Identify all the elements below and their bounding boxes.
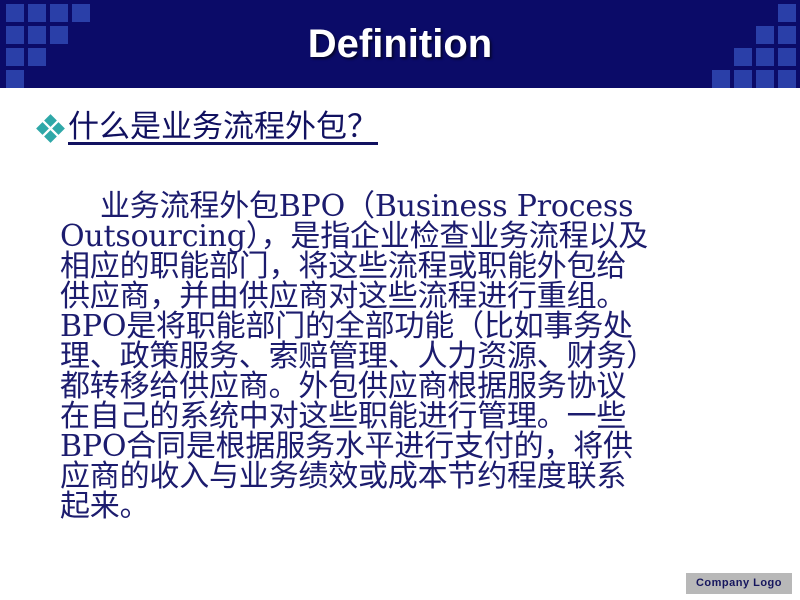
body-line: 业务流程外包BPO（Business Process xyxy=(60,192,750,222)
body-line: BPO是将职能部门的全部功能（比如事务处 xyxy=(60,312,750,342)
slide-heading-row: 什么是业务流程外包？ xyxy=(38,110,378,144)
body-line: 起来。 xyxy=(60,492,750,522)
slide-body: 业务流程外包BPO（Business Process Outsourcing），… xyxy=(60,192,750,522)
body-line: 理、政策服务、索赔管理、人力资源、财务） xyxy=(60,342,750,372)
body-line: 相应的职能部门，将这些流程或职能外包给 xyxy=(60,252,750,282)
company-logo-placeholder: Company Logo xyxy=(686,573,792,594)
body-line: BPO合同是根据服务水平进行支付的，将供 xyxy=(60,432,750,462)
diamond-cluster-bullet-icon xyxy=(38,116,64,142)
slide-heading: 什么是业务流程外包？ xyxy=(68,110,378,144)
body-line: Outsourcing），是指企业检查业务流程以及 xyxy=(60,222,750,252)
body-line: 都转移给供应商。外包供应商根据服务协议 xyxy=(60,372,750,402)
body-line: 在自己的系统中对这些职能进行管理。一些 xyxy=(60,402,750,432)
body-line: 供应商，并由供应商对这些流程进行重组。 xyxy=(60,282,750,312)
slide-title-banner: Definition xyxy=(0,0,800,88)
body-line: 应商的收入与业务绩效或成本节约程度联系 xyxy=(60,462,750,492)
presentation-slide: Definition 什么是业务流程外包？ 业务流程外包BPO（Business… xyxy=(0,0,800,600)
slide-title: Definition xyxy=(0,0,800,88)
